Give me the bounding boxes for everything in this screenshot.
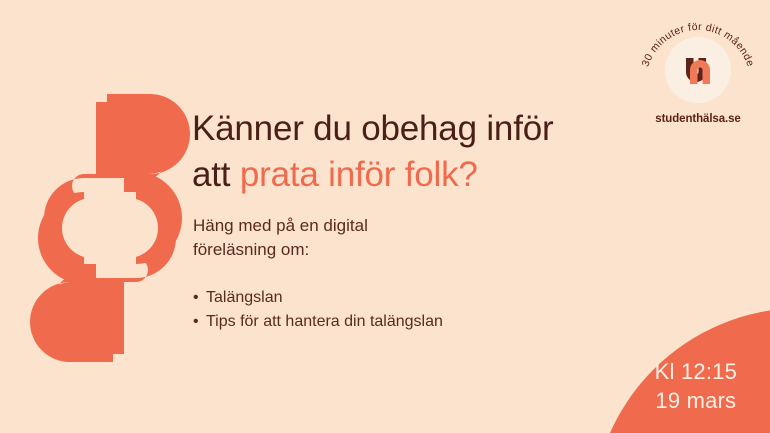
poster-canvas: Känner du obehag inför att prata inför f… (0, 0, 770, 433)
headline: Känner du obehag inför att prata inför f… (192, 106, 553, 197)
badge-website: studenthälsa.se (655, 113, 740, 125)
headline-line-2: att prata inför folk? (192, 152, 553, 198)
large-s-shape (30, 94, 190, 362)
list-item: Tips för att hantera din talängslan (193, 310, 443, 334)
badge: 30 minuter för ditt mående studenthälsa.… (634, 14, 762, 134)
schedule-date: 19 mars (655, 386, 737, 415)
topic-list: Talängslan Tips för att hantera din talä… (193, 286, 443, 335)
schedule-block: Kl 12:15 19 mars (655, 357, 737, 416)
list-item: Talängslan (193, 286, 443, 310)
schedule-time: Kl 12:15 (655, 357, 737, 386)
subheading-line-2: föreläsning om: (193, 238, 368, 262)
subheading-line-1: Häng med på en digital (193, 214, 368, 238)
badge-inner-circle (665, 37, 731, 103)
headline-line-2-accent: prata inför folk? (240, 155, 478, 194)
headline-line-2-plain: att (192, 155, 240, 194)
subheading: Häng med på en digital föreläsning om: (193, 214, 368, 262)
headline-line-1: Känner du obehag inför (192, 106, 553, 152)
